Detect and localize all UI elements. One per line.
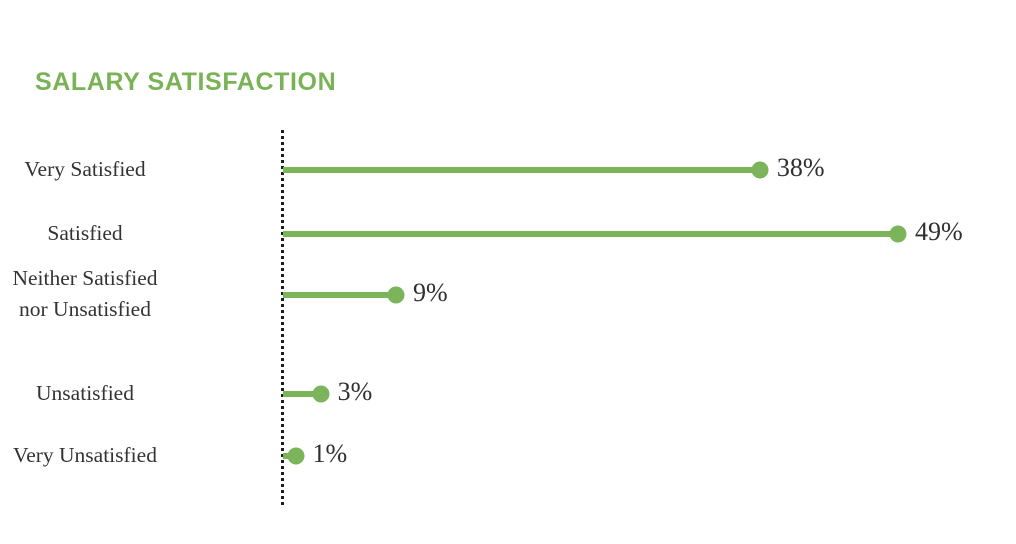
value-label: 9% xyxy=(413,278,448,308)
category-label: Neither Satisfied nor Unsatisfied xyxy=(0,263,235,325)
value-label: 3% xyxy=(338,377,373,407)
category-label: Satisfied xyxy=(0,218,235,249)
bar-stem xyxy=(283,167,760,173)
category-label: Very Unsatisfied xyxy=(0,440,235,471)
category-label: Unsatisfied xyxy=(0,378,235,409)
value-label: 1% xyxy=(313,439,348,469)
bar-endpoint-dot xyxy=(889,226,906,243)
plot-area: Very Satisfied38%Satisfied49%Neither Sat… xyxy=(0,0,1016,544)
value-label: 38% xyxy=(777,153,825,183)
chart-root: SALARY SATISFACTION Very Satisfied38%Sat… xyxy=(0,0,1016,544)
bar-endpoint-dot xyxy=(387,287,404,304)
category-label: Very Satisfied xyxy=(0,154,235,185)
baseline-axis xyxy=(281,130,284,505)
value-label: 49% xyxy=(915,217,963,247)
bar-endpoint-dot xyxy=(312,386,329,403)
bar-endpoint-dot xyxy=(287,448,304,465)
bar-stem xyxy=(283,292,396,298)
bar-stem xyxy=(283,231,898,237)
bar-endpoint-dot xyxy=(751,162,768,179)
